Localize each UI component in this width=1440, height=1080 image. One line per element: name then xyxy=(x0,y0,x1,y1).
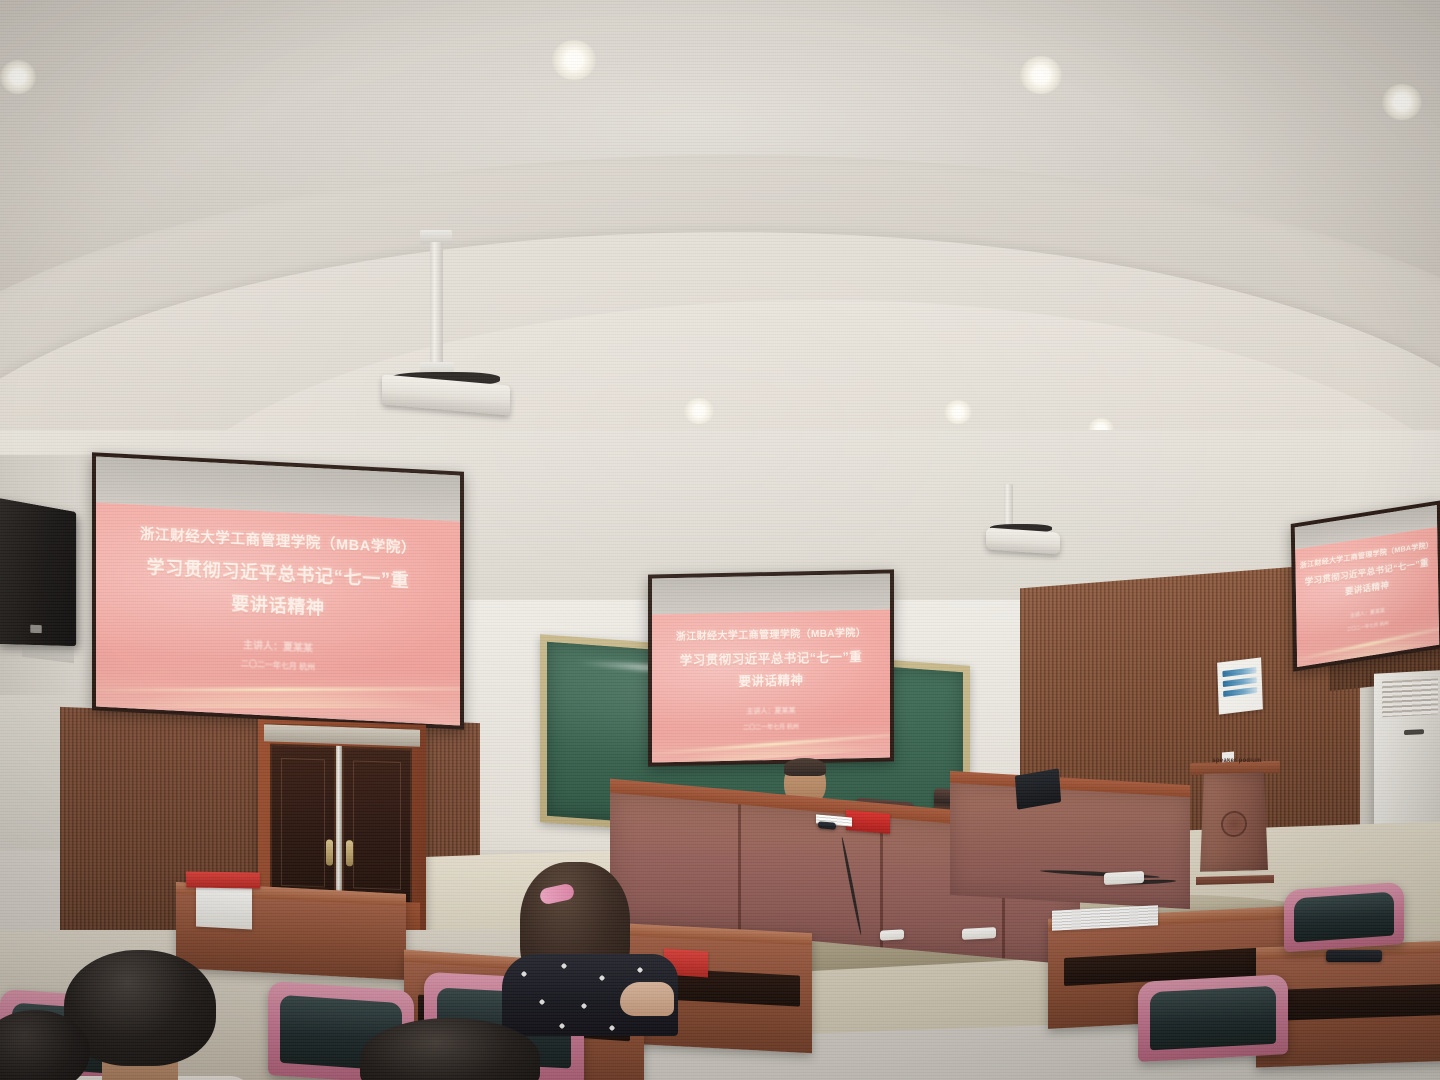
projector-2-mount-pole xyxy=(1004,484,1013,526)
speaker-podium[interactable] xyxy=(1196,761,1274,881)
floor-cable-cover xyxy=(880,929,904,940)
floor-cable-cover xyxy=(962,927,996,940)
attendee-arm xyxy=(620,982,674,1016)
presenter-device[interactable] xyxy=(818,821,836,830)
seat-backrest xyxy=(1150,986,1276,1050)
white-cardboard-box[interactable] xyxy=(196,885,252,930)
attendee-hair xyxy=(360,1018,540,1080)
door-leaf-right[interactable] xyxy=(342,746,412,904)
loudspeaker-icon xyxy=(0,497,76,646)
wall-notice-placard xyxy=(1217,657,1263,714)
mobile-phone-icon[interactable] xyxy=(1326,950,1382,962)
door-panel xyxy=(353,760,401,890)
podium-body xyxy=(1200,772,1268,872)
left-projection-screen: 浙江财经大学工商管理学院（MBA学院） 学习贯彻习近平总书记“七一”重 要讲话精… xyxy=(92,452,464,729)
seat-backrest xyxy=(1294,891,1395,943)
floor-cable-cover xyxy=(1104,871,1144,885)
screen-top-band xyxy=(652,574,890,615)
sign-text-line xyxy=(1222,667,1256,677)
auditorium-seat[interactable] xyxy=(1284,882,1404,952)
university-emblem-icon xyxy=(1221,811,1247,838)
door-panel xyxy=(281,758,325,888)
slide-content: 浙江财经大学工商管理学院（MBA学院） 学习贯彻习近平总书记“七一”重 要讲话精… xyxy=(96,502,460,725)
attendee-polka-dot xyxy=(492,862,682,1012)
door-leaf-left[interactable] xyxy=(270,743,336,901)
table-seam xyxy=(880,817,883,947)
door-handle-icon[interactable] xyxy=(326,839,333,865)
lecture-hall-photo: 浙江财经大学工商管理学院（MBA学院） 学习贯彻习近平总书记“七一”重 要讲话精… xyxy=(0,0,1440,1080)
slide-content: 浙江财经大学工商管理学院（MBA学院） 学习贯彻习近平总书记“七一”重 要讲话精… xyxy=(652,610,890,763)
slide-title-line-2: 要讲话精神 xyxy=(652,668,890,692)
presiding-table-extension xyxy=(950,771,1190,913)
desk-shelf xyxy=(1268,984,1440,1021)
attendee-hair xyxy=(0,1010,90,1080)
name-placard xyxy=(846,810,890,834)
projector-mount-pole xyxy=(430,242,443,367)
sign-text-line xyxy=(1223,687,1257,697)
sign-text-line xyxy=(1223,677,1257,687)
slide-title-line-1: 学习贯彻习近平总书记“七一”重 xyxy=(652,646,890,670)
slide-organization-line: 浙江财经大学工商管理学院（MBA学院） xyxy=(652,624,890,644)
attendee-bottom xyxy=(360,1018,540,1080)
red-box-lid[interactable] xyxy=(186,871,261,888)
table-front-panel xyxy=(950,783,1190,909)
ac-grille xyxy=(1382,678,1438,717)
table-seam xyxy=(738,804,741,934)
attendee-far-left xyxy=(0,1010,100,1080)
slide-content: 浙江财经大学工商管理学院（MBA学院） 学习贯彻习近平总书记“七一”重 要讲话精… xyxy=(1295,527,1439,667)
auditorium-seat[interactable] xyxy=(1138,974,1288,1062)
speaker-badge xyxy=(30,625,41,634)
center-projection-screen: 浙江财经大学工商管理学院（MBA学院） 学习贯彻习近平总书记“七一”重 要讲话精… xyxy=(648,569,894,766)
screen-surface: 浙江财经大学工商管理学院（MBA学院） 学习贯彻习近平总书记“七一”重 要讲话精… xyxy=(96,456,460,725)
screen-surface: 浙江财经大学工商管理学院（MBA学院） 学习贯彻习近平总书记“七一”重 要讲话精… xyxy=(652,574,890,763)
door-mullion xyxy=(336,746,342,902)
right-projection-screen: 浙江财经大学工商管理学院（MBA学院） 学习贯彻习近平总书记“七一”重 要讲话精… xyxy=(1291,500,1440,671)
door-handle-icon[interactable] xyxy=(346,840,353,866)
presenter-hair xyxy=(784,758,826,776)
podium-inscription: speaker podium xyxy=(1206,758,1268,764)
ac-display-panel xyxy=(1404,729,1424,735)
screen-surface: 浙江财经大学工商管理学院（MBA学院） 学习贯彻习近平总书记“七一”重 要讲话精… xyxy=(1295,505,1439,667)
